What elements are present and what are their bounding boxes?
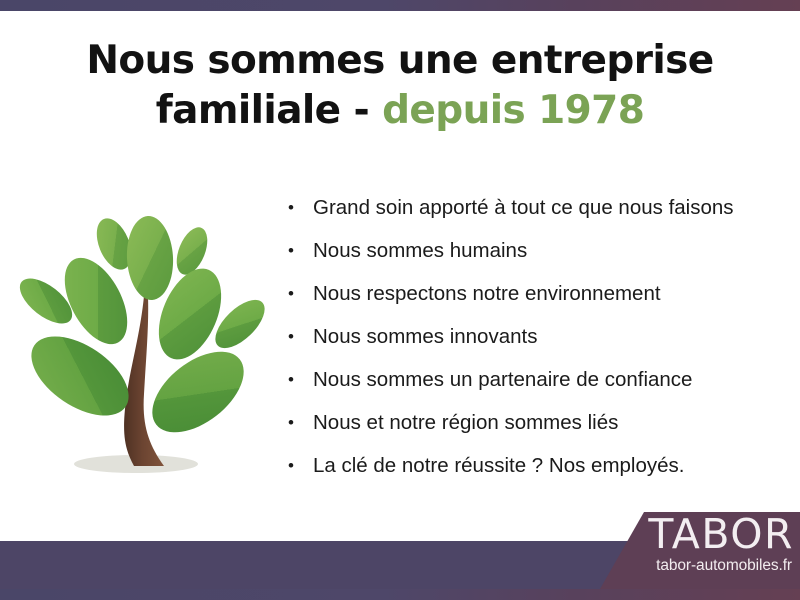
list-item: Nous sommes innovants [286,322,766,365]
page-title: Nous sommes une entreprise familiale - d… [60,36,740,136]
brand-logo: TABOR tabor-automobiles.fr [598,512,794,575]
logo-tagline: tabor-automobiles.fr [598,556,794,575]
logo-wordmark: TABOR [598,512,794,556]
list-item: Nous et notre région sommes liés [286,408,766,451]
headline-line-2-accent: depuis 1978 [382,88,644,133]
tree-leaf [18,320,142,431]
tree-leaf [125,215,175,301]
slide-canvas: Nous sommes une entreprise familiale - d… [0,0,800,600]
bottom-accent-bar [0,589,800,600]
list-item: Nous respectons notre environnement [286,279,766,322]
list-item: La clé de notre réussite ? Nos employés. [286,451,766,494]
list-item: Nous sommes un partenaire de confiance [286,365,766,408]
tree-trunk [124,296,164,466]
headline-line-2-plain: familiale - [156,88,382,133]
list-item: Nous sommes humains [286,236,766,279]
value-bullet-list: Grand soin apporté à tout ce que nous fa… [286,193,766,494]
top-accent-bar [0,0,800,11]
tree-leaf [138,336,258,449]
headline-line-1: Nous sommes une entreprise [86,38,713,83]
tree-illustration [18,196,270,486]
list-item: Grand soin apporté à tout ce que nous fa… [286,193,766,236]
